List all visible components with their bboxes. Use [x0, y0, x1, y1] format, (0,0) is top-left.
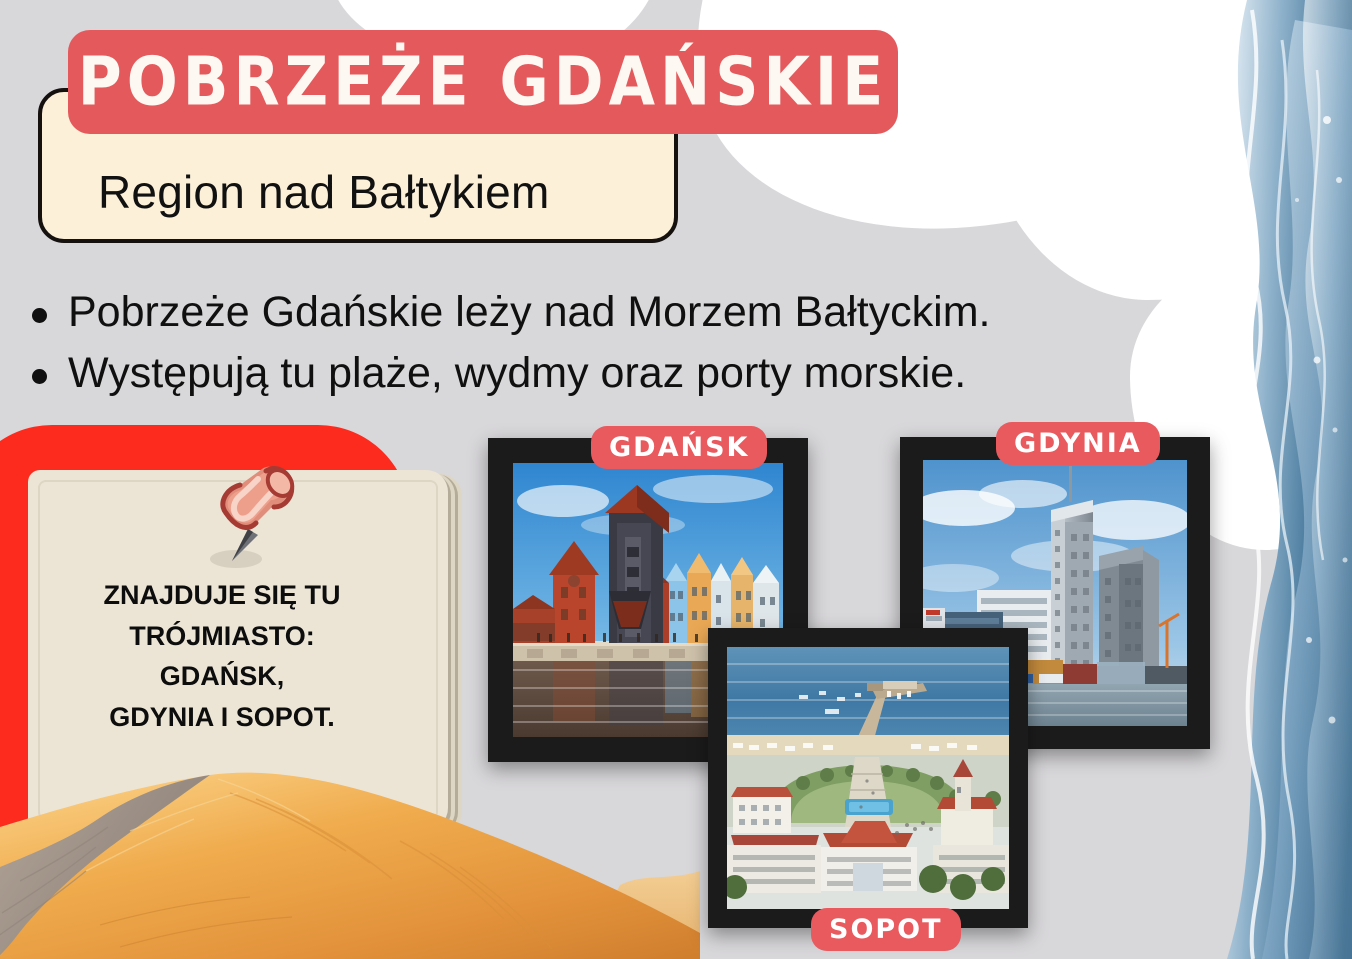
page-title: POBRZEŻE GDAŃSKIE [78, 43, 889, 121]
poster-root: Region nad Bałtykiem POBRZEŻE GDAŃSKIE P… [0, 0, 1352, 959]
sand-dune-decoration [0, 755, 700, 959]
list-item: Pobrzeże Gdańskie leży nad Morzem Bałtyc… [16, 282, 1296, 343]
poster-subtitle: Region nad Bałtykiem [98, 169, 549, 215]
photo-sopot [727, 647, 1009, 909]
photo-label-gdynia: GDYNIA [996, 422, 1160, 465]
photo-label-gdansk: GDAŃSK [591, 426, 767, 469]
list-item: Występują tu plaże, wydmy oraz porty mor… [16, 343, 1296, 404]
pushpin-icon [196, 455, 306, 575]
title-banner: POBRZEŻE GDAŃSKIE [68, 30, 898, 134]
facts-list: Pobrzeże Gdańskie leży nad Morzem Bałtyc… [16, 282, 1296, 404]
note-card-text: ZNAJDUJE SIĘ TU TRÓJMIASTO: GDAŃSK, GDYN… [36, 575, 408, 737]
photo-label-sopot: SOPOT [811, 908, 961, 951]
photo-frame-sopot[interactable] [708, 628, 1028, 928]
